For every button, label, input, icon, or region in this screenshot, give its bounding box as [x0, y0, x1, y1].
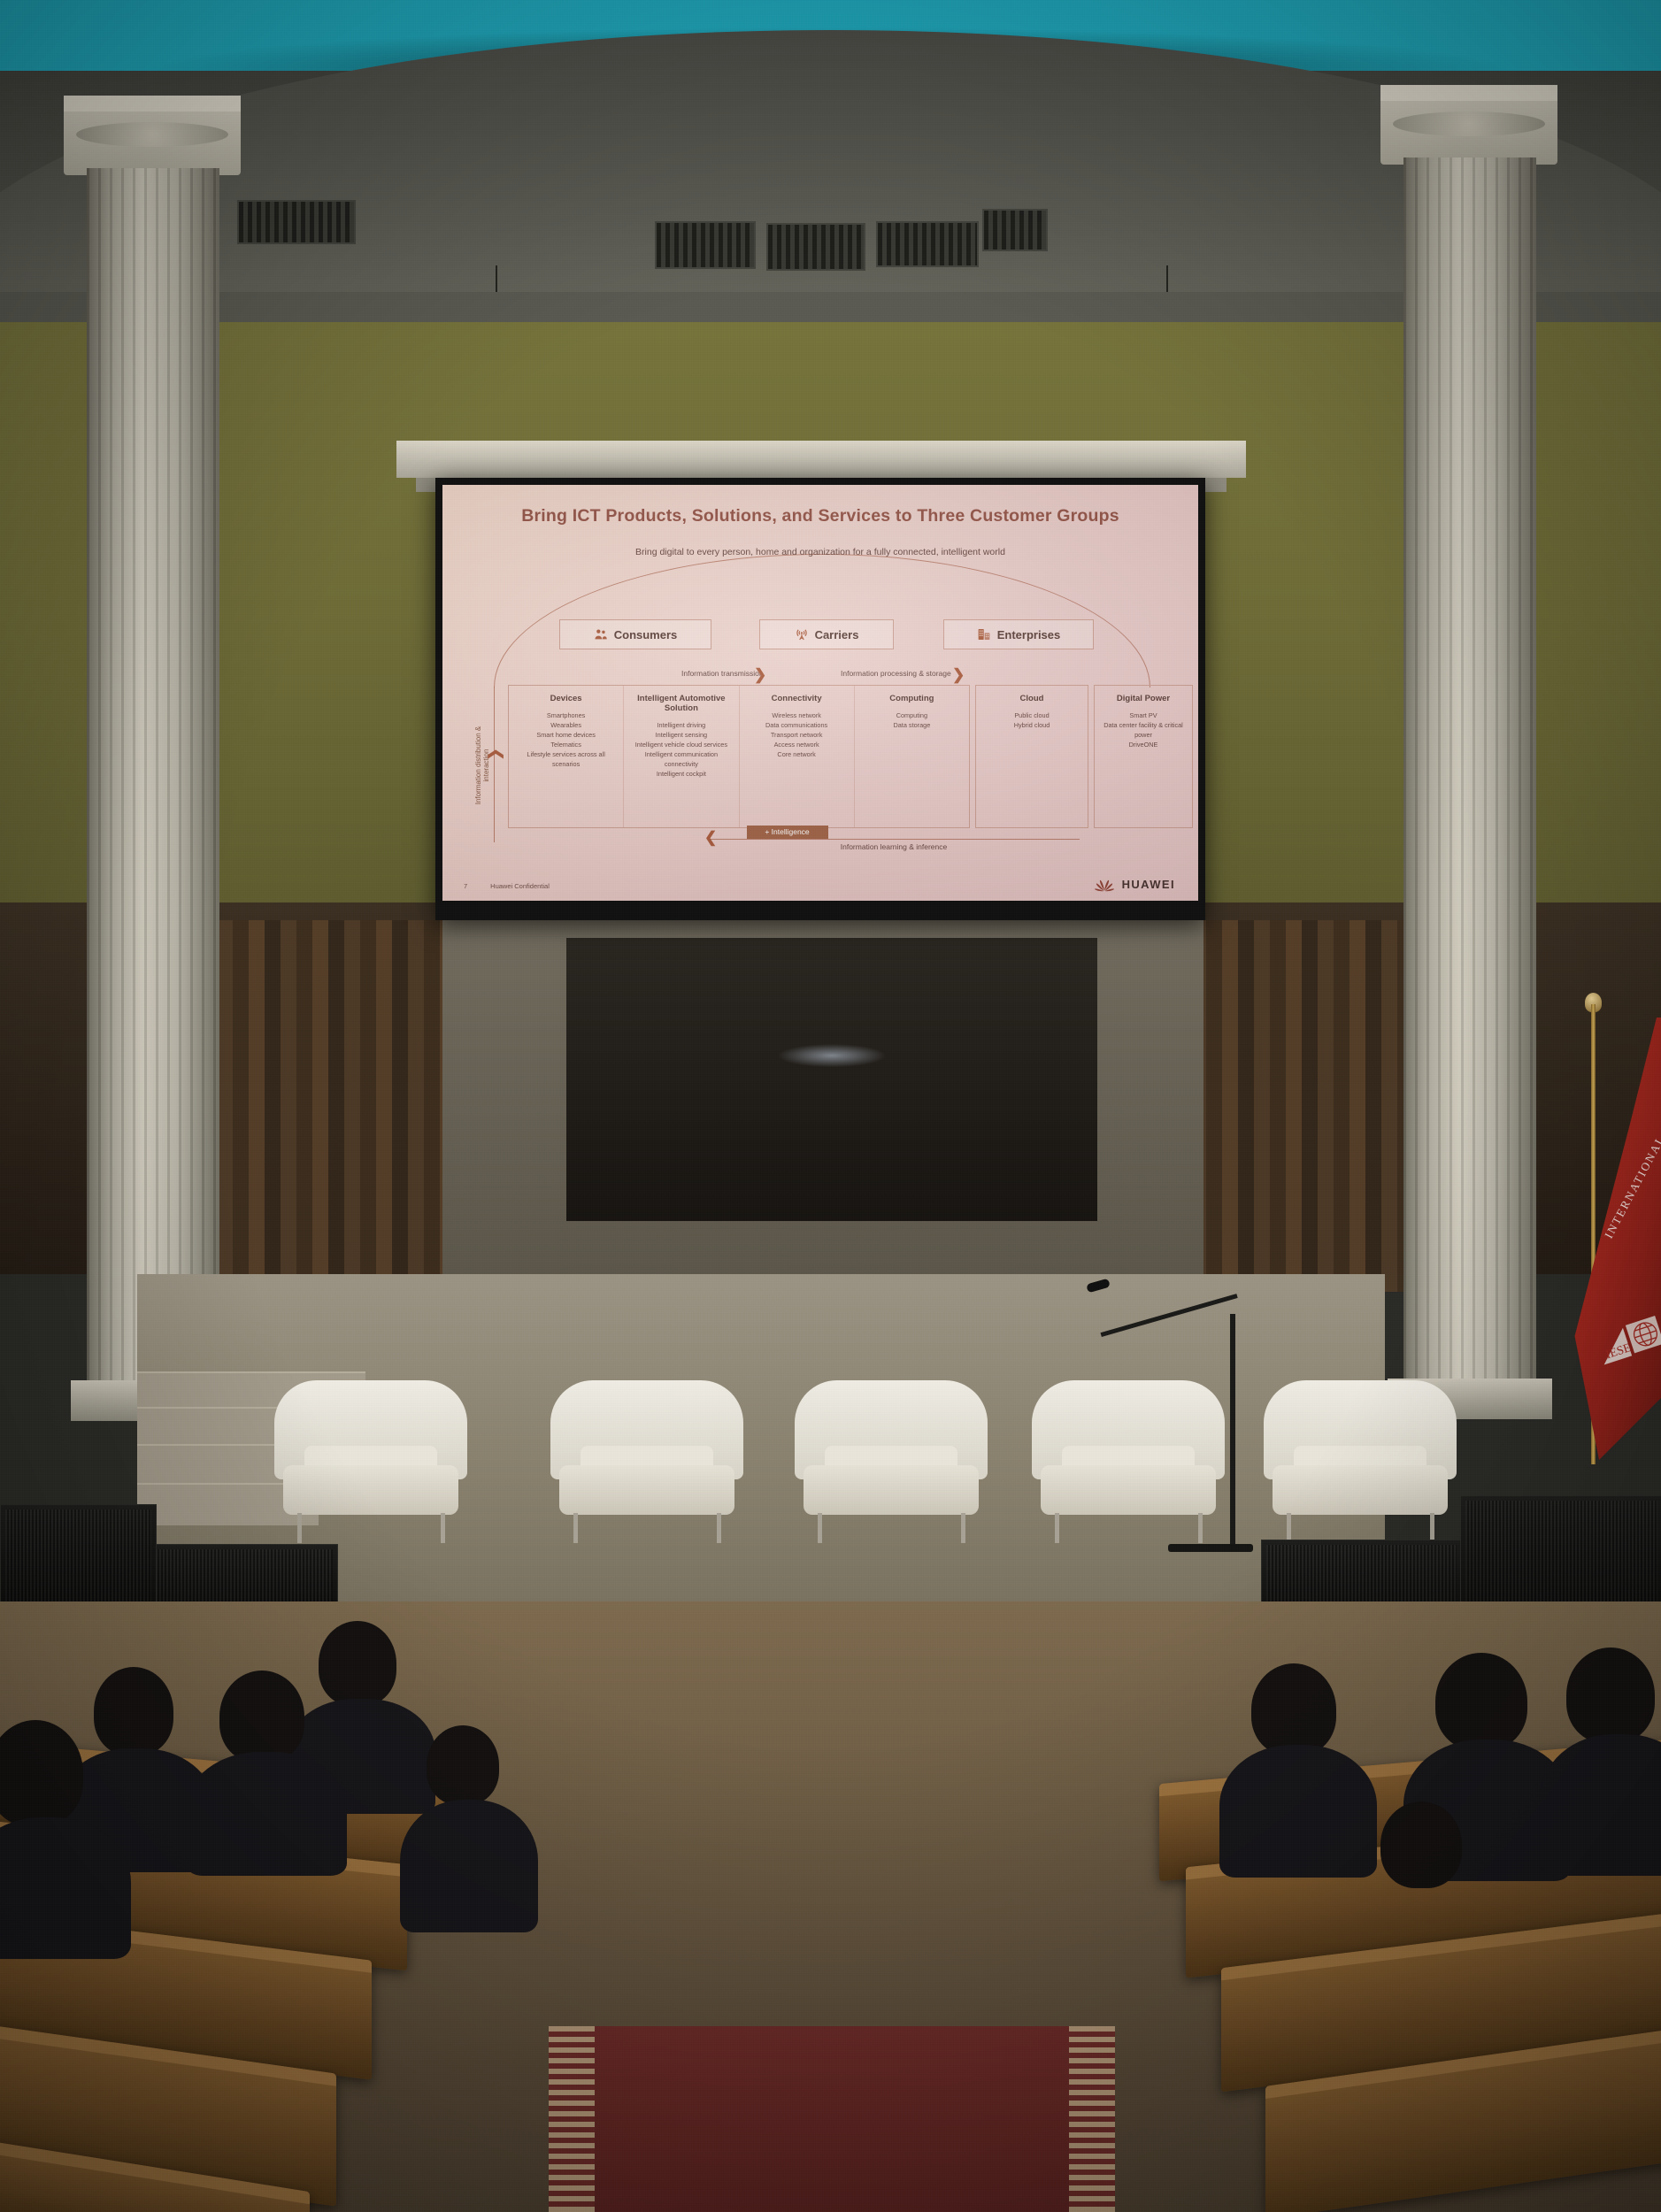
slide-confidentiality: Huawei Confidential [490, 882, 550, 890]
customer-groups-row: Consumers Carriers [494, 619, 1149, 648]
cloud-header: Cloud [980, 694, 1084, 703]
column-right [1403, 157, 1536, 1379]
distribution-flow-line [494, 687, 495, 842]
customer-group-carriers: Carriers [759, 619, 894, 649]
column-capital-left [64, 96, 241, 175]
ceiling-vent [655, 221, 756, 269]
audience-head [94, 1667, 173, 1755]
column-item: Computing [858, 711, 965, 721]
flow-label-feedback: Information learning & inference [708, 842, 1080, 851]
customer-group-consumers: Consumers [559, 619, 711, 649]
digital-power-item: Smart PV [1098, 711, 1188, 721]
stage-armchair [1032, 1380, 1225, 1544]
stage-back-glow [779, 1044, 885, 1067]
audience-head [427, 1725, 499, 1805]
column-left [87, 168, 219, 1380]
flow-label-transmission: Information transmission [681, 669, 764, 678]
column-item: Telematics [512, 741, 619, 750]
column-item: Intelligent driving [627, 721, 734, 731]
digital-power-box: Digital Power Smart PV Data center facil… [1094, 685, 1193, 828]
slide-title: Bring ICT Products, Solutions, and Servi… [442, 506, 1198, 526]
column-item: Data communications [743, 721, 850, 731]
column-devices: Devices Smartphones Wearables Smart home… [509, 686, 623, 827]
audience-shoulders [0, 1817, 131, 1959]
column-header: Intelligent Automotive Solution [627, 694, 734, 713]
column-item: Intelligent sensing [627, 731, 734, 741]
ceiling-vent [766, 223, 865, 271]
audience-head [1380, 1801, 1462, 1888]
flow-labels: Information transmission Information pro… [494, 669, 1149, 683]
microphone-base [1168, 1544, 1253, 1552]
arrow-right-processing-icon: ❯ [952, 667, 965, 682]
flow-label-distribution-vertical: Information distribution & interaction [474, 708, 487, 823]
digital-power-item: Data center facility & critical power [1098, 721, 1188, 741]
customer-group-label: Consumers [614, 628, 678, 641]
audience-shoulders [1540, 1734, 1661, 1876]
column-item: Wearables [512, 721, 619, 731]
cloud-item: Hybrid cloud [980, 721, 1084, 731]
audience-head [219, 1671, 304, 1763]
column-item: Core network [743, 750, 850, 760]
slide-subtitle: Bring digital to every person, home and … [442, 547, 1198, 557]
microphone-pole [1230, 1314, 1235, 1548]
audience-head [319, 1621, 396, 1706]
people-icon [594, 627, 608, 641]
audience-head [1566, 1647, 1655, 1743]
column-item: Access network [743, 741, 850, 750]
column-item: Intelligent vehicle cloud services [627, 741, 734, 750]
intelligence-badge: + Intelligence [747, 826, 828, 839]
antenna-tower-icon [795, 627, 809, 641]
slide-footer: 7Huawei Confidential [464, 882, 550, 890]
auditorium-photo: Bring ICT Products, Solutions, and Servi… [0, 0, 1661, 2212]
feedback-flow-line [708, 839, 1080, 840]
customer-group-enterprises: Enterprises [943, 619, 1094, 649]
column-item: Data storage [858, 721, 965, 731]
column-header: Devices [512, 694, 619, 703]
column-item: Smartphones [512, 711, 619, 721]
vertical-label-line1: Information distribution & [474, 708, 482, 823]
digital-power-item: DriveONE [1098, 741, 1188, 750]
ceiling-vent [876, 221, 979, 267]
audience-shoulders [1219, 1745, 1377, 1878]
slide-page-number: 7 [464, 882, 467, 890]
screen-beam [396, 441, 1246, 478]
stage-armchair [1264, 1380, 1457, 1544]
column-header: Connectivity [743, 694, 850, 703]
column-intelligent-automotive-solution: Intelligent Automotive Solution Intellig… [623, 686, 738, 827]
audience-head [1251, 1663, 1336, 1755]
ceiling-vent [237, 200, 356, 244]
column-capital-right [1380, 85, 1557, 165]
arrow-up-icon: ❯ [488, 748, 503, 760]
stage-armchair [550, 1380, 743, 1544]
stage-armchair [274, 1380, 467, 1544]
column-item: Smart home devices [512, 731, 619, 741]
audience-head [1435, 1653, 1527, 1750]
column-item: Transport network [743, 731, 850, 741]
huawei-petal-logo-icon [1093, 877, 1116, 892]
column-computing: Computing Computing Data storage [854, 686, 969, 827]
column-item: Intelligent communication connectivity [627, 750, 734, 770]
main-capability-box: Devices Smartphones Wearables Smart home… [508, 685, 970, 828]
stage-speaker-far-left [0, 1504, 157, 1610]
huawei-brand: HUAWEI [1093, 877, 1175, 892]
presentation-slide: Bring ICT Products, Solutions, and Servi… [442, 485, 1198, 901]
customer-group-label: Enterprises [997, 628, 1061, 641]
customer-group-label: Carriers [815, 628, 859, 641]
column-connectivity: Connectivity Wireless network Data commu… [739, 686, 854, 827]
column-item: Lifestyle services across all scenarios [512, 750, 619, 770]
office-building-icon [977, 627, 991, 641]
aisle-carpet-runner [549, 2026, 1115, 2212]
projector-screen: Bring ICT Products, Solutions, and Servi… [435, 478, 1205, 920]
stage-back-window [566, 938, 1097, 1221]
flag-globe-emblem-icon: IESE [1593, 1301, 1661, 1389]
huawei-wordmark: HUAWEI [1122, 878, 1175, 891]
ceiling-vent [982, 209, 1048, 251]
audience-shoulders [400, 1800, 538, 1932]
column-item: Wireless network [743, 711, 850, 721]
flow-label-processing: Information processing & storage [841, 669, 951, 678]
vertical-label-line2: interaction [482, 708, 490, 823]
cloud-item: Public cloud [980, 711, 1084, 721]
stage-armchair [795, 1380, 988, 1544]
digital-power-header: Digital Power [1098, 694, 1188, 703]
column-header: Computing [858, 694, 965, 703]
column-item: Intelligent cockpit [627, 770, 734, 780]
cloud-box: Cloud Public cloud Hybrid cloud [975, 685, 1088, 828]
arrow-right-transmission-icon: ❯ [754, 667, 766, 682]
